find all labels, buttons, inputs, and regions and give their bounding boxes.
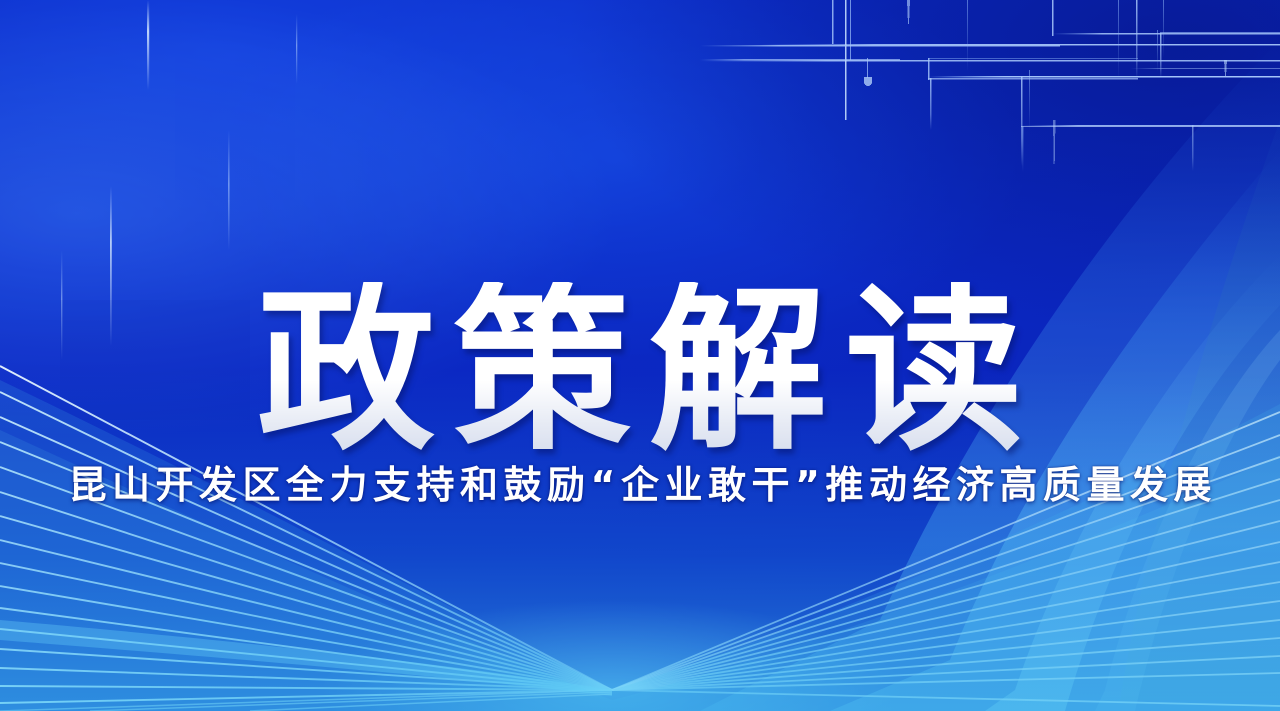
policy-interpretation-poster: 政策解读 昆山开发区全力支持和鼓励“企业敢干”推动经济高质量发展 [0, 0, 1280, 711]
page-subtitle: 昆山开发区全力支持和鼓励“企业敢干”推动经济高质量发展 [63, 468, 1217, 502]
subtitle-block: 昆山开发区全力支持和鼓励“企业敢干”推动经济高质量发展 [0, 430, 1280, 540]
